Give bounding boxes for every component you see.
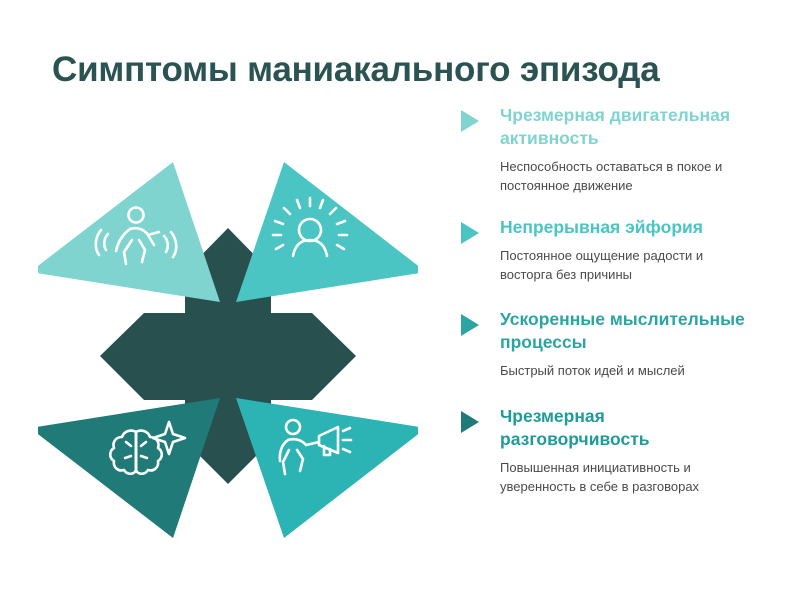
symptom-list: Чрезмерная двигательная активность Неспо… [458,104,758,497]
symptom-title: Непрерывная эйфория [500,216,758,239]
page-title: Симптомы маниакального эпизода [52,50,772,90]
symptom-description: Постоянное ощущение радости и восторга б… [500,247,748,285]
wedge-bottom-right [236,398,418,538]
triangle-marker-icon [461,222,479,244]
triangle-marker-icon [461,314,479,336]
symptom-title: Чрезмерная двигательная активность [500,104,758,150]
symptom-title: Чрезмерная разговорчивость [500,405,758,451]
symptom-title: Ускоренные мыслительные процессы [500,308,758,354]
symptom-description: Повышенная инициативность и уверенность … [500,459,748,497]
symptom-item-2: Непрерывная эйфория Постоянное ощущение … [458,216,758,285]
symptom-diagram [38,150,418,550]
symptom-description: Быстрый поток идей и мыслей [500,362,748,381]
symptom-description: Неспособность оставаться в покое и посто… [500,158,748,196]
wedge-top-right [236,162,418,302]
wedge-bottom-left [38,398,220,538]
symptom-item-1: Чрезмерная двигательная активность Неспо… [458,104,758,196]
symptom-item-3: Ускоренные мыслительные процессы Быстрый… [458,308,758,381]
infographic-page: Симптомы маниакального эпизода [0,0,792,610]
triangle-marker-icon [461,411,479,433]
symptom-item-4: Чрезмерная разговорчивость Повышенная ин… [458,405,758,497]
triangle-marker-icon [461,110,479,132]
wedge-top-left [38,162,220,302]
